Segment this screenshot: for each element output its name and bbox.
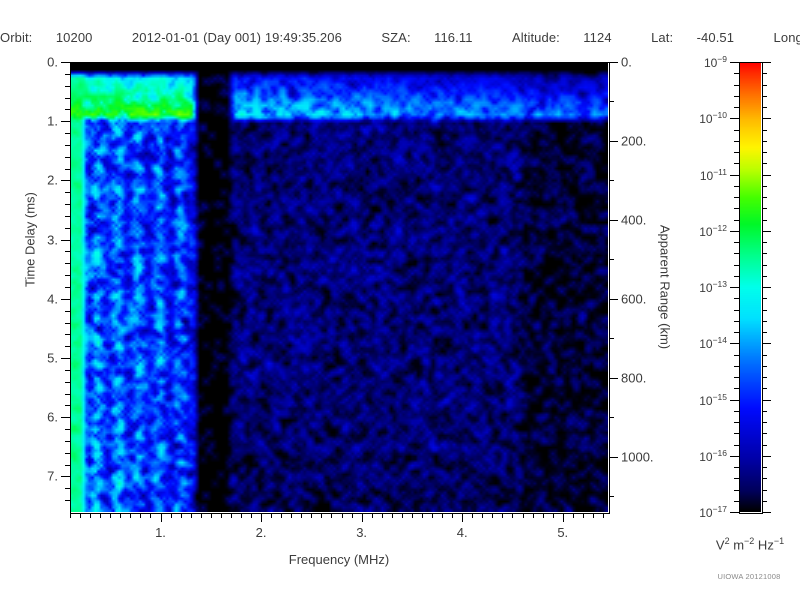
y-tick-label: 1.: [47, 114, 58, 129]
y-tick-minor: [65, 275, 70, 276]
y-tick-label: 6.: [47, 410, 58, 425]
colorbar-tick-minor: [762, 220, 767, 221]
x-tick-minor: [181, 513, 182, 518]
colorbar-tick-label: 10−9: [704, 54, 727, 70]
x-tick-minor: [251, 513, 252, 518]
y2-tick-minor: [609, 417, 614, 418]
y-tick-minor: [65, 228, 70, 229]
colorbar-tick-major: [762, 287, 771, 288]
x-tick-label: 4.: [457, 525, 468, 540]
altitude-value: 1124: [583, 30, 611, 45]
colorbar-tick-minor: [734, 276, 739, 277]
colorbar-tick-minor: [734, 490, 739, 491]
colorbar-tick-major: [730, 231, 739, 232]
y-tick-minor: [65, 500, 70, 501]
colorbar-tick-major: [730, 456, 739, 457]
y-tick-minor: [65, 98, 70, 99]
x-tick-minor: [523, 513, 524, 518]
colorbar-tick-minor: [762, 366, 767, 367]
x-tick-minor: [452, 513, 453, 518]
x-tick-minor: [543, 513, 544, 518]
colorbar-tick-major: [730, 287, 739, 288]
x-tick-minor: [442, 513, 443, 518]
colorbar-tick-major: [730, 175, 739, 176]
colorbar-tick-minor: [762, 265, 767, 266]
colorbar-tick-major: [762, 175, 771, 176]
header-info: Orbit: 10200 2012-01-01 (Day 001) 19:49:…: [0, 30, 800, 45]
colorbar-tick-minor: [762, 298, 767, 299]
colorbar-tick-label: 10−17: [699, 504, 727, 520]
colorbar-tick-minor: [762, 467, 767, 468]
x-tick-major: [261, 513, 262, 522]
colorbar-tick-minor: [734, 130, 739, 131]
colorbar-tick-minor: [762, 478, 767, 479]
x-tick-minor: [482, 513, 483, 518]
colorbar-tick-minor: [762, 163, 767, 164]
colorbar-tick-major: [762, 400, 771, 401]
sza-value: 116.11: [434, 30, 472, 45]
colorbar-tick-major: [730, 343, 739, 344]
colorbar-tick-minor: [734, 220, 739, 221]
y2-tick-major: [609, 62, 618, 63]
colorbar-gradient: [739, 62, 761, 512]
x-tick-minor: [603, 513, 604, 518]
x-tick-label: 1.: [155, 525, 166, 540]
colorbar-tick-label: 10−16: [699, 448, 727, 464]
y-tick-minor: [65, 441, 70, 442]
x-tick-major: [161, 513, 162, 522]
colorbar-tick-label: 10−12: [699, 223, 727, 239]
colorbar-units: V2 m−2 Hz−1: [700, 536, 800, 552]
x-tick-major: [563, 513, 564, 522]
y-tick-label: 0.: [47, 55, 58, 70]
x-tick-minor: [191, 513, 192, 518]
y-tick-minor: [65, 74, 70, 75]
colorbar-tick-minor: [734, 433, 739, 434]
y2-tick-major: [609, 220, 618, 221]
colorbar-tick-major: [762, 62, 771, 63]
colorbar-tick-minor: [762, 433, 767, 434]
y-tick-minor: [65, 405, 70, 406]
colorbar-tick-minor: [734, 298, 739, 299]
x-tick-minor: [140, 513, 141, 518]
y-tick-minor: [65, 157, 70, 158]
x-tick-minor: [553, 513, 554, 518]
x-tick-minor: [110, 513, 111, 518]
colorbar-tick-label: 10−11: [700, 167, 727, 183]
colorbar-tick-major: [730, 62, 739, 63]
y2-tick-label: 600.: [621, 291, 646, 306]
colorbar-tick-minor: [762, 422, 767, 423]
x-tick-minor: [321, 513, 322, 518]
colorbar-tick-minor: [734, 321, 739, 322]
colorbar-tick-minor: [762, 197, 767, 198]
colorbar-tick-minor: [762, 152, 767, 153]
y2-tick-minor: [609, 338, 614, 339]
y-tick-label: 3.: [47, 232, 58, 247]
colorbar-tick-minor: [734, 422, 739, 423]
x-tick-minor: [281, 513, 282, 518]
x-tick-minor: [291, 513, 292, 518]
y-tick-minor: [65, 192, 70, 193]
x-tick-minor: [271, 513, 272, 518]
x-tick-minor: [331, 513, 332, 518]
x-tick-label: 3.: [356, 525, 367, 540]
colorbar-tick-minor: [762, 332, 767, 333]
colorbar-tick-minor: [734, 355, 739, 356]
colorbar-tick-minor: [734, 478, 739, 479]
x-tick-minor: [231, 513, 232, 518]
x-tick-minor: [171, 513, 172, 518]
y-tick-minor: [65, 86, 70, 87]
y-tick-minor: [65, 263, 70, 264]
colorbar-tick-minor: [734, 96, 739, 97]
x-axis-title: Frequency (MHz): [289, 552, 389, 567]
y-tick-minor: [65, 382, 70, 383]
y-tick-minor: [65, 429, 70, 430]
colorbar-tick-label: 10−15: [699, 392, 727, 408]
x-tick-major: [462, 513, 463, 522]
x-tick-minor: [352, 513, 353, 518]
y-tick-minor: [65, 287, 70, 288]
y-tick-minor: [65, 370, 70, 371]
x-tick-minor: [311, 513, 312, 518]
colorbar-tick-minor: [734, 332, 739, 333]
colorbar-tick-minor: [762, 355, 767, 356]
long-label: Long:: [774, 30, 800, 45]
colorbar-tick-minor: [734, 388, 739, 389]
colorbar-tick-minor: [762, 377, 767, 378]
credit-text: UIOWA 20121008: [700, 572, 798, 581]
y-tick-major: [61, 476, 70, 477]
colorbar-tick-minor: [734, 85, 739, 86]
x-tick-minor: [492, 513, 493, 518]
y-tick-minor: [65, 145, 70, 146]
x-tick-minor: [583, 513, 584, 518]
colorbar-tick-minor: [762, 186, 767, 187]
x-tick-minor: [392, 513, 393, 518]
colorbar-tick-minor: [734, 208, 739, 209]
y-tick-major: [61, 299, 70, 300]
colorbar-tick-label: 10−10: [699, 110, 727, 126]
y-tick-minor: [65, 251, 70, 252]
colorbar-tick-minor: [734, 186, 739, 187]
colorbar-tick-major: [762, 512, 771, 513]
altitude-label: Altitude:: [512, 30, 560, 45]
x-tick-minor: [372, 513, 373, 518]
colorbar-tick-major: [730, 400, 739, 401]
colorbar-tick-major: [730, 118, 739, 119]
colorbar-tick-minor: [762, 310, 767, 311]
y-tick-minor: [65, 453, 70, 454]
x-tick-minor: [512, 513, 513, 518]
colorbar-tick-minor: [734, 163, 739, 164]
colorbar-tick-minor: [734, 366, 739, 367]
colorbar-tick-minor: [734, 73, 739, 74]
colorbar-tick-minor: [762, 130, 767, 131]
x-tick-minor: [150, 513, 151, 518]
y2-tick-minor: [609, 496, 614, 497]
y-tick-minor: [65, 394, 70, 395]
lat-value: -40.51: [697, 30, 734, 45]
x-tick-minor: [130, 513, 131, 518]
x-tick-minor: [80, 513, 81, 518]
x-tick-minor: [211, 513, 212, 518]
colorbar-tick-minor: [762, 96, 767, 97]
y-tick-minor: [65, 204, 70, 205]
y2-tick-major: [609, 457, 618, 458]
x-tick-minor: [382, 513, 383, 518]
x-tick-minor: [573, 513, 574, 518]
colorbar-tick-minor: [762, 276, 767, 277]
y-tick-minor: [65, 346, 70, 347]
orbit-label: Orbit:: [0, 30, 32, 45]
colorbar-tick-minor: [734, 411, 739, 412]
colorbar-tick-minor: [762, 107, 767, 108]
x-tick-minor: [221, 513, 222, 518]
y-tick-major: [61, 417, 70, 418]
colorbar-tick-minor: [734, 310, 739, 311]
x-tick-major: [362, 513, 363, 522]
x-tick-minor: [301, 513, 302, 518]
x-tick-minor: [90, 513, 91, 518]
y-tick-minor: [65, 216, 70, 217]
y2-tick-major: [609, 299, 618, 300]
colorbar-tick-minor: [762, 501, 767, 502]
y2-tick-major: [609, 141, 618, 142]
colorbar-tick-minor: [762, 388, 767, 389]
y-tick-minor: [65, 169, 70, 170]
x-tick-minor: [472, 513, 473, 518]
colorbar-tick-minor: [762, 141, 767, 142]
y-tick-minor: [65, 311, 70, 312]
x-tick-minor: [100, 513, 101, 518]
colorbar-tick-minor: [762, 85, 767, 86]
colorbar-tick-minor: [734, 265, 739, 266]
colorbar-tick-minor: [762, 208, 767, 209]
colorbar-tick-minor: [762, 411, 767, 412]
y-tick-minor: [65, 133, 70, 134]
colorbar-tick-minor: [734, 445, 739, 446]
y-tick-major: [61, 358, 70, 359]
sza-label: SZA:: [381, 30, 410, 45]
colorbar-tick-minor: [762, 445, 767, 446]
y-tick-label: 5.: [47, 351, 58, 366]
x-tick-minor: [422, 513, 423, 518]
x-tick-minor: [342, 513, 343, 518]
y-tick-minor: [65, 334, 70, 335]
x-tick-minor: [533, 513, 534, 518]
x-tick-minor: [241, 513, 242, 518]
y-tick-minor: [65, 465, 70, 466]
colorbar-tick-minor: [734, 501, 739, 502]
y2-tick-label: 0.: [621, 55, 632, 70]
y2-tick-minor: [609, 259, 614, 260]
colorbar-tick-minor: [734, 253, 739, 254]
y2-tick-minor: [609, 101, 614, 102]
y2-tick-label: 800.: [621, 370, 646, 385]
colorbar-tick-major: [762, 231, 771, 232]
x-tick-minor: [402, 513, 403, 518]
x-tick-minor: [201, 513, 202, 518]
colorbar-tick-major: [730, 512, 739, 513]
x-tick-label: 5.: [557, 525, 568, 540]
colorbar-tick-major: [762, 118, 771, 119]
colorbar-tick-major: [762, 343, 771, 344]
colorbar-tick-minor: [734, 141, 739, 142]
colorbar-tick-label: 10−13: [699, 279, 727, 295]
colorbar-tick-minor: [762, 73, 767, 74]
y2-tick-minor: [609, 180, 614, 181]
y-tick-minor: [65, 109, 70, 110]
x-tick-minor: [502, 513, 503, 518]
y-tick-major: [61, 62, 70, 63]
colorbar-tick-minor: [734, 377, 739, 378]
y-tick-major: [61, 180, 70, 181]
y-tick-label: 2.: [47, 173, 58, 188]
x-tick-minor: [412, 513, 413, 518]
colorbar-tick-minor: [734, 107, 739, 108]
y2-tick-label: 1000.: [621, 449, 654, 464]
y-tick-minor: [65, 323, 70, 324]
colorbar-tick-minor: [762, 321, 767, 322]
orbit-value: 10200: [56, 30, 93, 45]
colorbar-tick-minor: [734, 197, 739, 198]
y-tick-label: 4.: [47, 291, 58, 306]
x-tick-label: 2.: [256, 525, 267, 540]
spectrogram-image: [70, 62, 608, 512]
y2-tick-major: [609, 378, 618, 379]
y-tick-minor: [65, 488, 70, 489]
x-tick-minor: [432, 513, 433, 518]
x-tick-minor: [593, 513, 594, 518]
datetime-value: 2012-01-01 (Day 001) 19:49:35.206: [132, 30, 342, 45]
colorbar-tick-minor: [734, 467, 739, 468]
colorbar-tick-label: 10−14: [699, 335, 727, 351]
y-tick-label: 7.: [47, 469, 58, 484]
y-tick-major: [61, 121, 70, 122]
y2-axis-title: Apparent Range (km): [658, 225, 673, 349]
colorbar-tick-minor: [762, 253, 767, 254]
colorbar-tick-minor: [734, 242, 739, 243]
colorbar-tick-minor: [734, 152, 739, 153]
colorbar-tick-minor: [762, 242, 767, 243]
x-tick-minor: [120, 513, 121, 518]
x-tick-minor: [70, 513, 71, 518]
colorbar-tick-minor: [762, 490, 767, 491]
lat-label: Lat:: [651, 30, 673, 45]
y2-tick-label: 400.: [621, 212, 646, 227]
colorbar-tick-major: [762, 456, 771, 457]
y2-tick-label: 200.: [621, 133, 646, 148]
y-tick-major: [61, 240, 70, 241]
